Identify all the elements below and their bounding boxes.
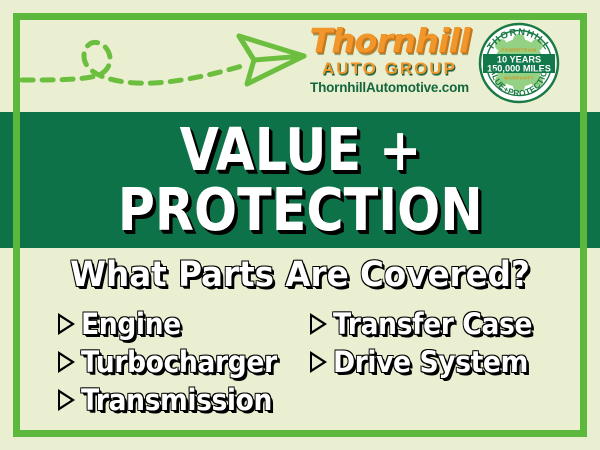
logo-wordmark: Thornhill <box>305 24 473 58</box>
list-item: Turbocharger <box>58 343 310 381</box>
covered-parts-column-right: Transfer Case Drive System <box>310 305 560 425</box>
part-label: Drive System <box>333 345 528 379</box>
triangle-bullet-icon <box>58 351 75 373</box>
part-label: Transmission <box>81 383 272 417</box>
dashed-loop-path-icon <box>18 14 308 104</box>
triangle-bullet-icon <box>58 313 75 335</box>
advertisement-banner: Thornhill AUTO GROUP ThornhillAutomotive… <box>0 0 600 450</box>
triangle-bullet-icon <box>58 389 75 411</box>
headline-text-group: VALUE + PROTECTION <box>0 112 600 248</box>
seal-graphic: 10 YEARS 150,000 MILES POWERTRAIN WARRAN… <box>478 22 560 104</box>
seal-warranty: WARRANTY <box>504 76 534 81</box>
headline-line-1: VALUE + <box>179 123 421 178</box>
triangle-bullet-icon <box>310 313 327 335</box>
paper-plane-arrow-icon <box>239 36 304 84</box>
covered-parts-column-left: Engine Turbocharger Transmission <box>58 305 310 425</box>
part-label: Turbocharger <box>81 345 277 379</box>
logo-subtitle: AUTO GROUP <box>307 59 472 78</box>
part-label: Engine <box>81 307 181 341</box>
warranty-seal-badge: 10 YEARS 150,000 MILES POWERTRAIN WARRAN… <box>478 22 560 104</box>
logo-website-url: ThornhillAutomotive.com <box>307 80 472 96</box>
list-item: Transfer Case <box>310 305 560 343</box>
list-item: Engine <box>58 305 310 343</box>
covered-parts-columns: Engine Turbocharger Transmission Transfe… <box>0 305 600 425</box>
list-item: Drive System <box>310 343 560 381</box>
headline-line-2: PROTECTION <box>117 183 482 238</box>
flight-path-graphic <box>18 14 308 104</box>
thornhill-logo: Thornhill AUTO GROUP ThornhillAutomotive… <box>307 24 472 104</box>
seal-powertrain: POWERTRAIN <box>501 48 537 53</box>
covered-parts-question: What Parts Are Covered? <box>21 255 579 295</box>
list-item: Transmission <box>58 381 310 419</box>
part-label: Transfer Case <box>333 307 532 341</box>
triangle-bullet-icon <box>310 351 327 373</box>
